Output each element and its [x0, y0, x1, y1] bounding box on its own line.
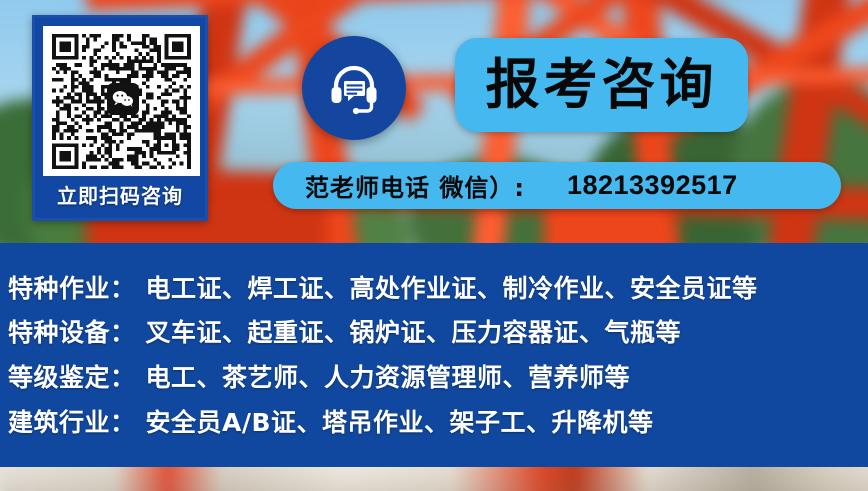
course-items: 电工证、焊工证、高处作业证、制冷作业、安全员证等: [146, 274, 758, 303]
contact-label: 范老师电话 微信）:: [305, 168, 525, 203]
qr-code-card[interactable]: 立即扫码咨询: [32, 15, 208, 221]
course-line: 特种设备：叉车证、起重证、锅炉证、压力容器证、气瓶等: [8, 313, 681, 349]
course-category: 建筑行业：: [8, 408, 136, 437]
title-badge[interactable]: 报考咨询: [455, 38, 748, 132]
course-line: 特种作业：电工证、焊工证、高处作业证、制冷作业、安全员证等: [8, 269, 758, 305]
qr-caption: 立即扫码咨询: [35, 180, 205, 209]
course-list-panel: 特种作业：电工证、焊工证、高处作业证、制冷作业、安全员证等 特种设备：叉车证、起…: [0, 243, 868, 467]
course-category: 特种设备：: [8, 318, 136, 347]
course-line: 等级鉴定：电工、茶艺师、人力资源管理师、营养师等: [8, 358, 630, 394]
contact-bar[interactable]: 范老师电话 微信）: 18213392517: [273, 162, 841, 209]
qr-code-surface: [43, 26, 200, 176]
course-category: 等级鉴定：: [8, 363, 136, 392]
bottom-photo-strip: [0, 467, 868, 491]
hero-banner: 立即扫码咨询 报考咨询 范老师电话 微信）: 1821339: [0, 0, 868, 243]
promo-poster: 立即扫码咨询 报考咨询 范老师电话 微信）: 1821339: [0, 0, 868, 491]
title-badge-label: 报考咨询: [486, 58, 718, 112]
course-items: 叉车证、起重证、锅炉证、压力容器证、气瓶等: [146, 318, 682, 347]
contact-phone-number[interactable]: 18213392517: [567, 170, 738, 201]
wechat-icon: [107, 83, 139, 115]
course-category: 特种作业：: [8, 274, 136, 303]
bottom-photo-shade: [0, 467, 868, 491]
headset-support-icon[interactable]: [302, 36, 406, 140]
course-items: 安全员A/B证、塔吊作业、架子工、升降机等: [146, 408, 654, 437]
course-items: 电工、茶艺师、人力资源管理师、营养师等: [146, 363, 631, 392]
course-line: 建筑行业：安全员A/B证、塔吊作业、架子工、升降机等: [8, 403, 654, 439]
crane-base-block: [544, 208, 669, 243]
